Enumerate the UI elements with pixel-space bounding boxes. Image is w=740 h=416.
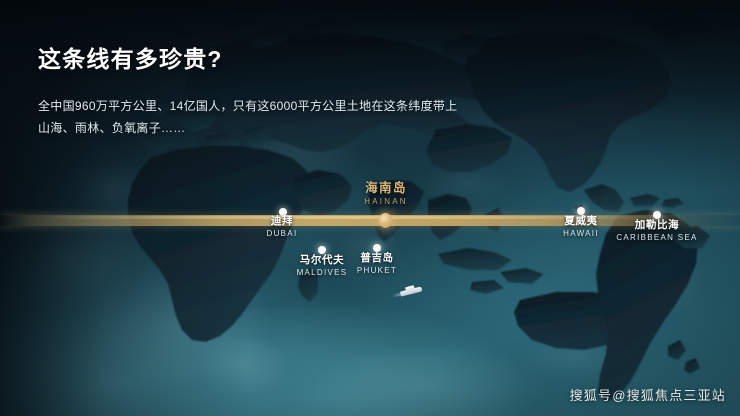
slide-canvas: 这条线有多珍贵? 全中国960万平方公里、14亿国人，只有这6000平方公里土地… [0,0,740,416]
marker-label-caribbean-sea-cn: 加勒比海 [607,219,707,232]
marker-label-phuket[interactable]: 普吉岛 PHUKET [327,252,427,276]
page-title: 这条线有多珍贵? [38,40,223,74]
marker-label-hainan-cn: 海南岛 [336,181,436,196]
marker-label-dubai-cn: 迪拜 [232,215,332,228]
marker-label-phuket-cn: 普吉岛 [327,252,427,265]
marker-dot-caribbean-sea[interactable] [653,211,661,219]
subtitle-line-1: 全中国960万平方公里、14亿国人，只有这6000平方公里土地在这条纬度带上 [38,95,457,117]
watermark: 搜狐号@搜狐焦点三亚站 [570,385,726,404]
subtitle-block: 全中国960万平方公里、14亿国人，只有这6000平方公里土地在这条纬度带上 山… [38,95,457,139]
marker-label-hainan-en: HAINAN [336,196,436,207]
marker-dot-phuket[interactable] [373,244,381,252]
subtitle-line-2: 山海、雨林、负氧离子…… [38,117,457,139]
marker-label-caribbean-sea[interactable]: 加勒比海 CARIBBEAN SEA [607,219,707,243]
marker-dot-hawaii[interactable] [577,207,585,215]
marker-label-caribbean-sea-en: CARIBBEAN SEA [607,232,707,243]
marker-dot-maldives[interactable] [318,246,326,254]
marker-label-dubai[interactable]: 迪拜 DUBAI [232,215,332,239]
marker-label-hainan[interactable]: 海南岛 HAINAN [336,181,436,207]
marker-label-dubai-en: DUBAI [232,228,332,239]
marker-label-phuket-en: PHUKET [327,265,427,276]
marker-dot-hainan[interactable] [379,213,392,228]
